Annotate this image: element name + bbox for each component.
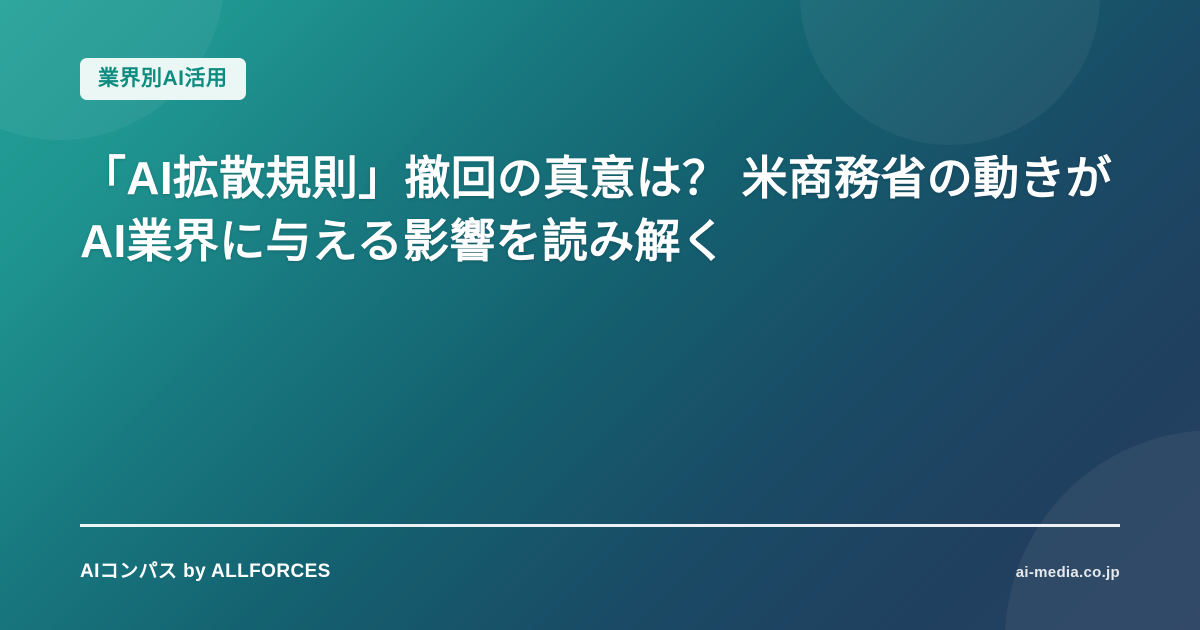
brand-name: AIコンパス by ALLFORCES — [80, 556, 331, 583]
page-title: 「AI拡散規則」撤回の真意は？ 米商務省の動きがAI業界に与える影響を読み解く — [80, 147, 1120, 272]
card-footer: AIコンパス by ALLFORCES ai-media.co.jp — [80, 524, 1120, 583]
footer-divider — [80, 524, 1120, 527]
footer-row: AIコンパス by ALLFORCES ai-media.co.jp — [80, 556, 1120, 583]
og-share-card: 業界別AI活用 「AI拡散規則」撤回の真意は？ 米商務省の動きがAI業界に与える… — [0, 0, 1200, 630]
site-domain: ai-media.co.jp — [1016, 564, 1120, 581]
category-badge: 業界別AI活用 — [80, 58, 246, 100]
